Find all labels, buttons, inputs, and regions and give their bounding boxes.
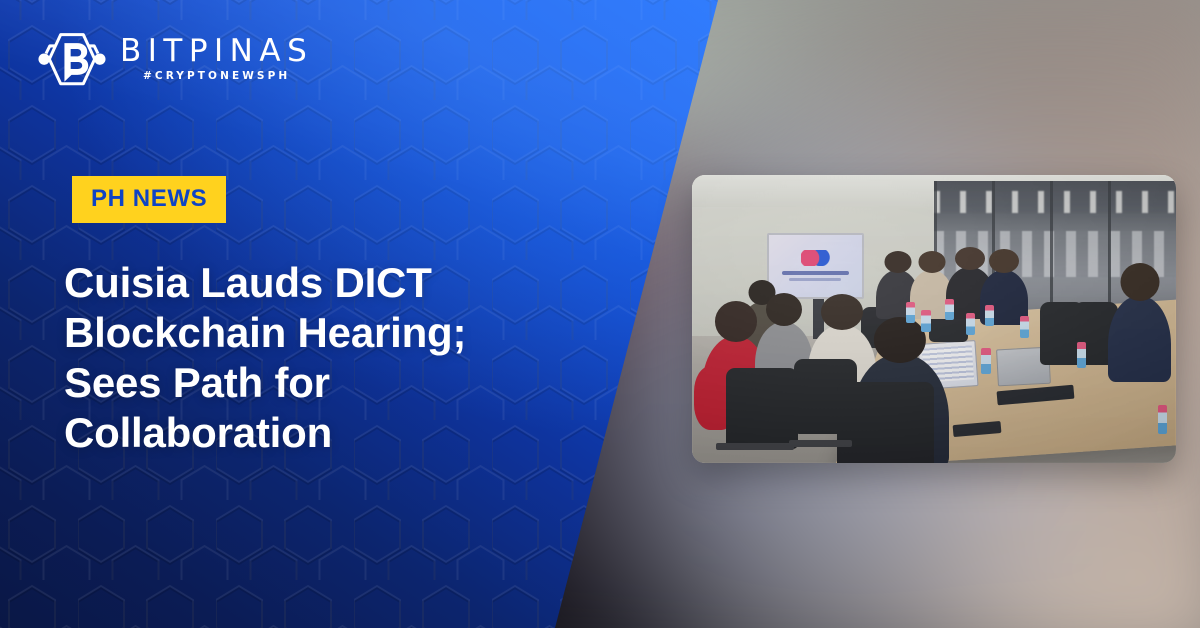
bitpinas-hex-b-logo-icon: [38, 28, 106, 90]
brand-tagline: #CRYPTONEWSPH: [120, 70, 313, 82]
brand-name: BITPINAS: [120, 36, 313, 68]
headline-title: Cuisia Lauds DICT Blockchain Hearing; Se…: [64, 258, 494, 458]
social-card: BITPINAS #CRYPTONEWSPH PH NEWS Cuisia La…: [0, 0, 1200, 628]
brand-wordmark: BITPINAS #CRYPTONEWSPH: [120, 36, 313, 83]
photo-scene: [692, 175, 1176, 463]
brand-logo[interactable]: BITPINAS #CRYPTONEWSPH: [38, 28, 313, 90]
photo-color-grade: [692, 175, 1176, 463]
category-badge: PH NEWS: [72, 176, 226, 223]
article-photo: [692, 175, 1176, 463]
